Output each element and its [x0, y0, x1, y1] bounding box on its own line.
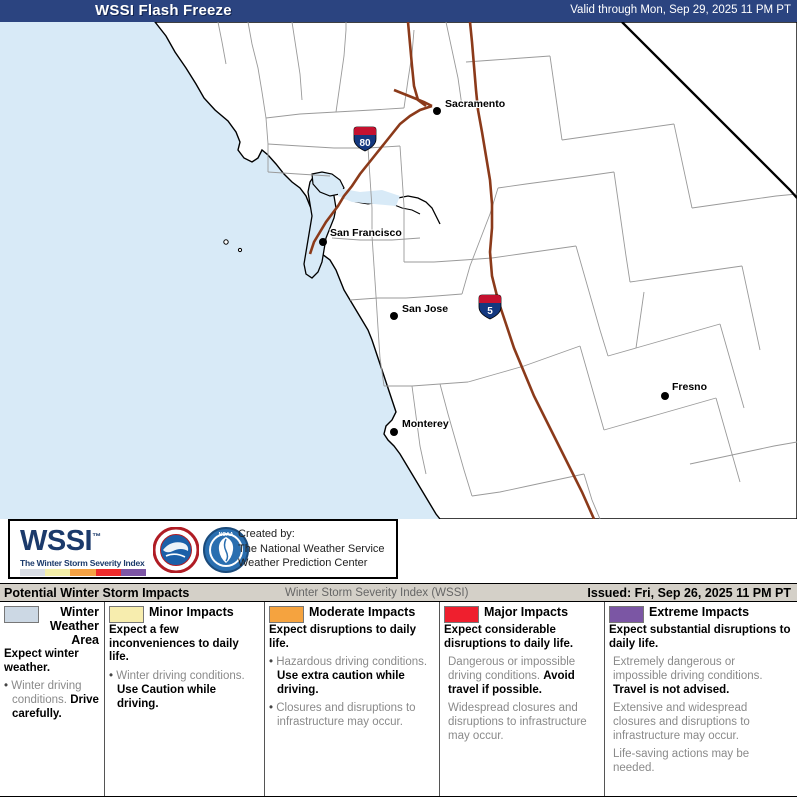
legend-bullet-item: • Winter driving conditions. Use Caution…: [109, 669, 259, 711]
wssi-wordmark: WSSI™: [20, 525, 101, 558]
legend-bullet-item: • Hazardous driving conditions. Use extr…: [269, 655, 434, 697]
legend-column-minor-impacts: Minor ImpactsExpect a few inconveniences…: [105, 602, 265, 796]
trademark-icon: ™: [92, 531, 101, 541]
legend-leadin-text: Expect disruptions to daily life.: [269, 624, 434, 651]
legend-column-major-impacts: Major ImpactsExpect considerable disrupt…: [440, 602, 605, 796]
legend-bar-title: Potential Winter Storm Impacts: [4, 586, 189, 600]
valid-through-text: Valid through Mon, Sep 29, 2025 11 PM PT: [570, 4, 791, 16]
legend-column-header: Major Impacts: [444, 605, 599, 623]
legend-swatch: [4, 606, 39, 623]
legend-bullet-item: Extensive and widespread closures and di…: [609, 701, 792, 743]
legend-bullet-list: • Hazardous driving conditions. Use extr…: [269, 655, 434, 729]
wssi-wordmark-text: WSSI: [20, 525, 92, 557]
city-label-san-jose: San Jose: [402, 303, 448, 315]
legend-bullet-item: Widespread closures and disruptions to i…: [444, 701, 599, 743]
svg-text:NOAA: NOAA: [219, 532, 234, 538]
island: [238, 248, 241, 251]
page-title: WSSI Flash Freeze: [95, 2, 232, 19]
map-canvas[interactable]: 80 5 Sacramento San Francisco San Jose M…: [0, 22, 797, 519]
legend-column-title: Moderate Impacts: [309, 605, 415, 619]
legend-title-bar: Potential Winter Storm Impacts Winter St…: [0, 583, 797, 602]
legend-column-title: Extreme Impacts: [649, 605, 749, 619]
city-dot-san-jose: [390, 312, 398, 320]
legend-bullet-list: • Winter driving conditions. Drive caref…: [4, 679, 99, 721]
legend-column-header: Moderate Impacts: [269, 605, 434, 623]
legend-column-header: Minor Impacts: [109, 605, 259, 623]
legend-bullet-list: Dangerous or impossible driving conditio…: [444, 655, 599, 743]
city-dot-sacramento: [433, 107, 441, 115]
legend-column-header: Extreme Impacts: [609, 605, 792, 623]
city-label-fresno: Fresno: [672, 381, 707, 393]
legend-column-title: Major Impacts: [484, 605, 568, 619]
city-dot-fresno: [661, 392, 669, 400]
legend-bullet-list: • Winter driving conditions. Use Caution…: [109, 669, 259, 711]
issued-text: Issued: Fri, Sep 26, 2025 11 PM PT: [587, 586, 791, 600]
legend-bullet-list: Extremely dangerous or impossible drivin…: [609, 655, 792, 775]
created-by-block: Created by: The National Weather Service…: [238, 527, 385, 571]
legend-swatch: [609, 606, 644, 623]
city-dot-monterey: [390, 428, 398, 436]
org-line-2: Weather Prediction Center: [238, 556, 385, 571]
city-label-sacramento: Sacramento: [445, 98, 505, 110]
legend-bullet-item: Dangerous or impossible driving conditio…: [444, 655, 599, 697]
legend-column-extreme-impacts: Extreme ImpactsExpect substantial disrup…: [605, 602, 797, 796]
legend-column-header: Winter Weather Area: [4, 605, 99, 647]
legend-bullet-item: • Closures and disruptions to infrastruc…: [269, 701, 434, 729]
legend-bullet-item: • Winter driving conditions. Drive caref…: [4, 679, 99, 721]
island: [224, 240, 228, 244]
wssi-color-bar: [20, 569, 146, 576]
legend-swatch: [269, 606, 304, 623]
created-by-label: Created by:: [238, 527, 385, 542]
wssi-flash-freeze-page: WSSI Flash Freeze Valid through Mon, Sep…: [0, 0, 797, 797]
legend-columns: Winter Weather AreaExpect winter weather…: [0, 602, 797, 797]
legend-column-winter-weather-area: Winter Weather AreaExpect winter weather…: [0, 602, 105, 796]
wssi-logo-panel: WSSI™ The Winter Storm Severity Index NO…: [8, 519, 398, 579]
svg-text:5: 5: [487, 306, 493, 317]
city-dot-san-francisco: [319, 238, 327, 246]
nws-seal-icon: [153, 527, 199, 573]
legend-leadin-text: Expect winter weather.: [4, 648, 99, 675]
legend-bar-subtitle: Winter Storm Severity Index (WSSI): [285, 587, 468, 599]
city-label-monterey: Monterey: [402, 418, 449, 430]
legend-leadin-text: Expect substantial disruptions to daily …: [609, 624, 792, 651]
legend-bullet-item: Extremely dangerous or impossible drivin…: [609, 655, 792, 697]
city-label-san-francisco: San Francisco: [330, 227, 402, 239]
legend-swatch: [109, 606, 144, 623]
svg-text:80: 80: [359, 138, 371, 149]
org-line-1: The National Weather Service: [238, 542, 385, 557]
legend-bullet-item: Life-saving actions may be needed.: [609, 747, 792, 775]
legend-swatch: [444, 606, 479, 623]
legend-leadin-text: Expect considerable disruptions to daily…: [444, 624, 599, 651]
legend-leadin-text: Expect a few inconveniences to daily lif…: [109, 624, 259, 665]
legend-column-moderate-impacts: Moderate ImpactsExpect disruptions to da…: [265, 602, 440, 796]
legend-column-title: Minor Impacts: [149, 605, 234, 619]
legend-column-title: Winter Weather Area: [44, 605, 99, 647]
wssi-tagline: The Winter Storm Severity Index: [20, 558, 145, 568]
header-bar: WSSI Flash Freeze Valid through Mon, Sep…: [0, 0, 797, 22]
map-graphic: 80 5: [0, 22, 797, 519]
